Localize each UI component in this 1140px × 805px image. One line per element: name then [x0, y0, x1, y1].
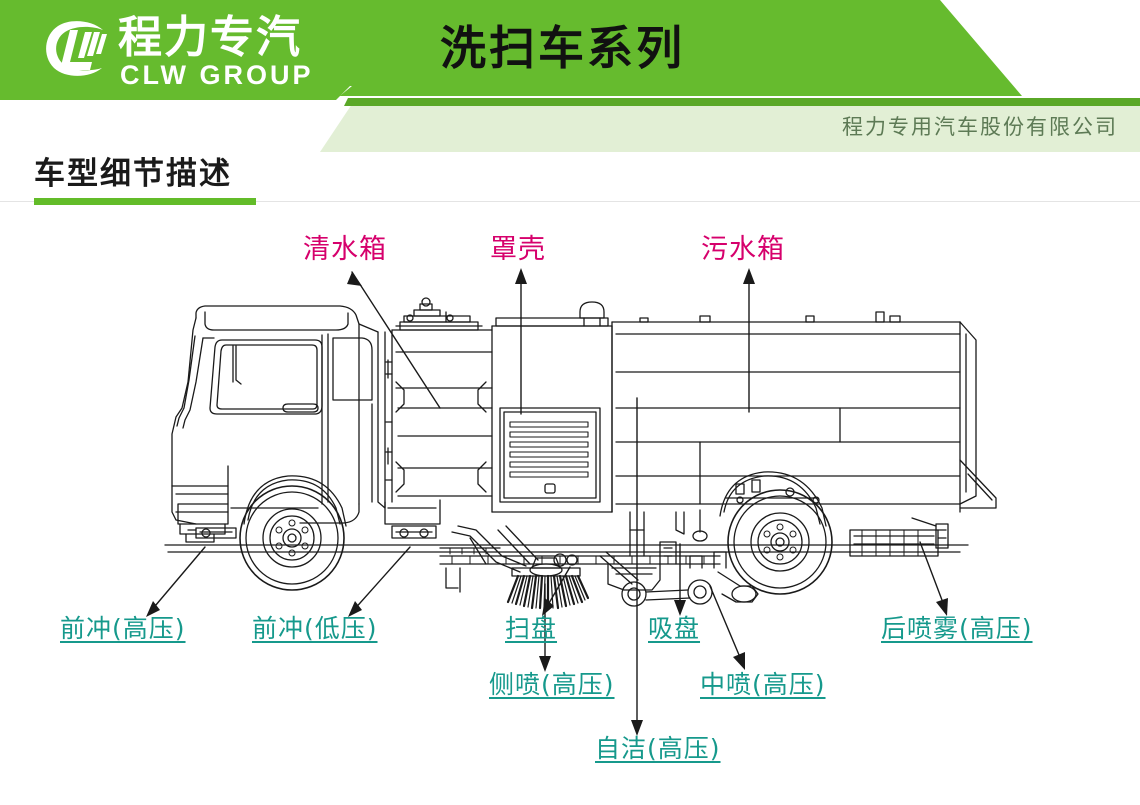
section-header: 车型细节描述	[0, 150, 1140, 212]
label-front-flush-high-pressure: 前冲(高压)	[60, 616, 186, 641]
label-clean-water-tank: 清水箱	[303, 236, 387, 263]
page-title: 洗扫车系列	[440, 20, 685, 76]
page-header: 程力专汽 CLW GROUP 洗扫车系列 程力专用汽车股份有限公司	[0, 0, 1140, 152]
label-mid-spray-high-pressure: 中喷(高压)	[700, 672, 826, 697]
label-sweep-disc: 扫盘	[505, 616, 557, 641]
company-name: 程力专用汽车股份有限公司	[842, 114, 1118, 140]
label-rear-mist-high-pressure: 后喷雾(高压)	[881, 616, 1033, 641]
label-sewage-tank: 污水箱	[701, 236, 785, 263]
logo-chinese-text: 程力专汽	[118, 14, 302, 62]
truck-detail-diagram: 清水箱 罩壳 污水箱 前冲(高压) 前冲(低压) 扫盘 吸盘 后喷雾(高压) 侧…	[0, 212, 1140, 805]
label-suction-nozzle: 吸盘	[648, 616, 700, 641]
section-underline	[34, 198, 256, 205]
logo-english-text: CLW GROUP	[120, 60, 314, 90]
label-self-clean-high-pressure: 自洁(高压)	[595, 736, 721, 761]
label-front-flush-low-pressure: 前冲(低压)	[252, 616, 378, 641]
label-cover-shell: 罩壳	[490, 236, 546, 263]
truck-line-drawing	[0, 212, 1140, 805]
clw-group-logo: 程力专汽 CLW GROUP	[40, 14, 340, 90]
clw-swoosh-icon	[40, 18, 114, 80]
section-heading: 车型细节描述	[34, 154, 232, 194]
label-side-spray-high-pressure: 侧喷(高压)	[489, 672, 615, 697]
